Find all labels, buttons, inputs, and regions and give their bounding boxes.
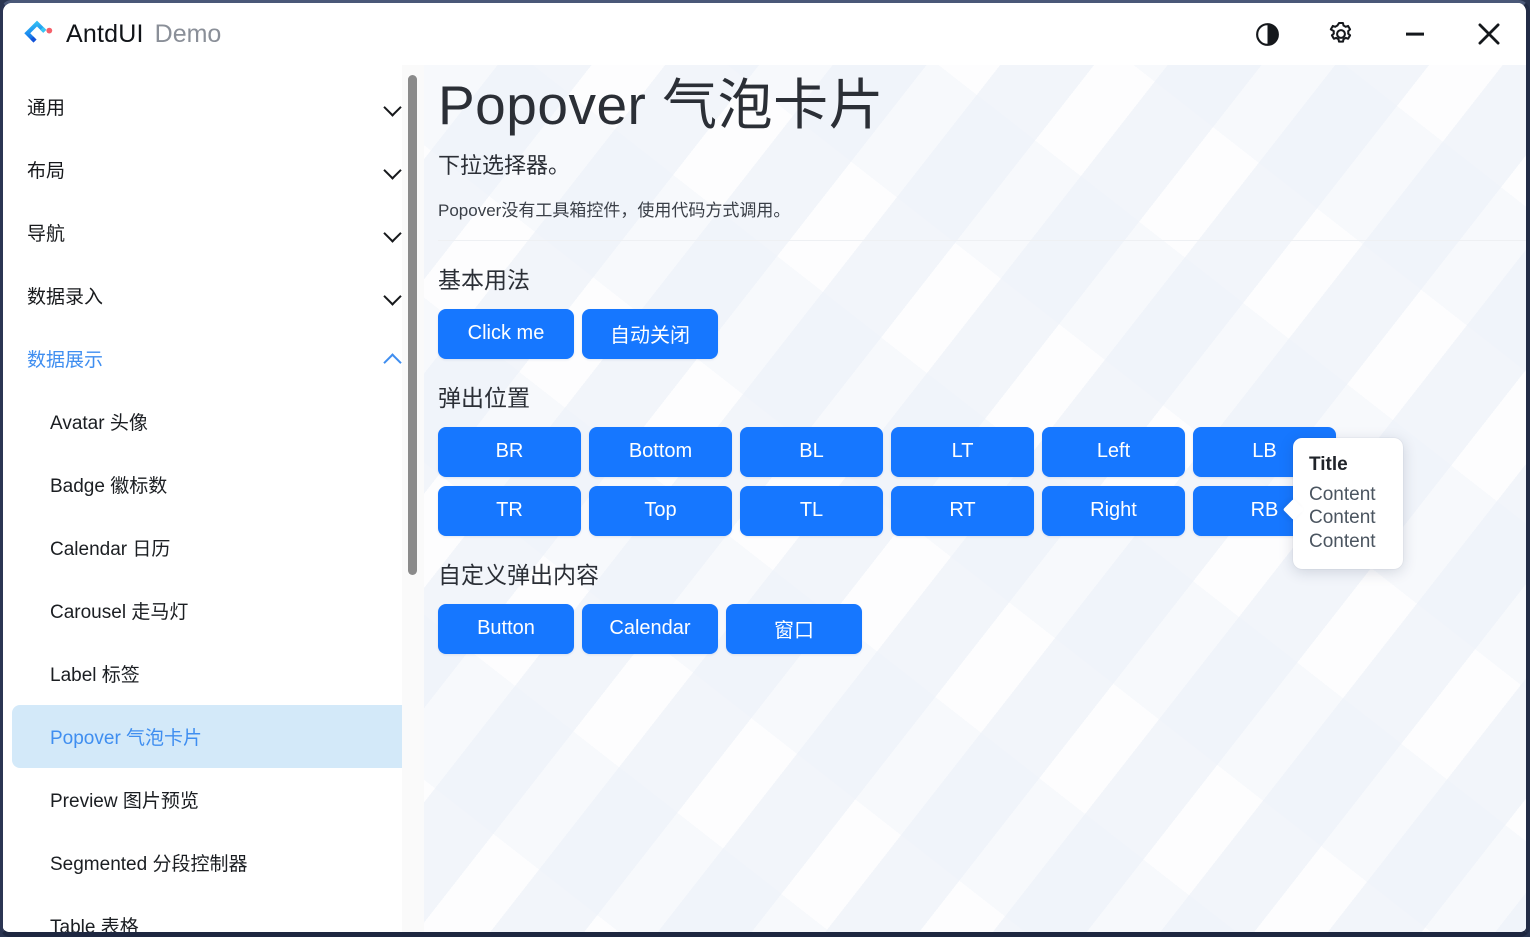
app-title: AntdUI (66, 20, 144, 49)
sidebar-item-label: Popover 气泡卡片 (50, 723, 202, 750)
gear-icon (1327, 20, 1355, 48)
sidebar-group-label: 数据展示 (27, 345, 384, 372)
sidebar-nav: 通用 布局 导航 数据录入 数据展示 (3, 65, 424, 932)
popover-card: Title Content Content Content (1293, 438, 1403, 569)
placement-button-left[interactable]: Left (1042, 427, 1185, 477)
sidebar-group-navigation[interactable]: 导航 (3, 201, 424, 264)
sidebar-item-label: Table 表格 (50, 912, 139, 932)
sidebar-scrollbar-thumb[interactable] (408, 75, 417, 575)
section-heading-basic: 基本用法 (438, 261, 1526, 295)
sidebar-scrollbar[interactable] (402, 65, 424, 932)
settings-button[interactable] (1304, 3, 1378, 65)
chevron-down-icon (384, 101, 402, 112)
title-bar: AntdUI Demo (3, 3, 1526, 65)
sidebar-item-popover[interactable]: Popover 气泡卡片 (12, 705, 415, 768)
app-window: AntdUI Demo (0, 0, 1530, 937)
popover-content-line: Content (1309, 506, 1389, 529)
placement-button-rt[interactable]: RT (891, 486, 1034, 536)
custom-calendar-button[interactable]: Calendar (582, 604, 718, 654)
placement-button-lt[interactable]: LT (891, 427, 1034, 477)
main-content: Popover 气泡卡片 下拉选择器。 Popover没有工具箱控件，使用代码方… (424, 65, 1526, 932)
sidebar-item-avatar[interactable]: Avatar 头像 (12, 390, 415, 453)
sidebar-group-data-display[interactable]: 数据展示 (3, 327, 424, 390)
placement-button-bottom[interactable]: Bottom (589, 427, 732, 477)
sidebar-item-table[interactable]: Table 表格 (12, 894, 415, 932)
sidebar-group-label: 通用 (27, 93, 384, 120)
sidebar-group-label: 数据录入 (27, 282, 384, 309)
placement-button-bl[interactable]: BL (740, 427, 883, 477)
custom-button-button[interactable]: Button (438, 604, 574, 654)
sidebar-item-label: Badge 徽标数 (50, 471, 167, 498)
contrast-icon (1254, 21, 1281, 48)
sidebar-item-badge[interactable]: Badge 徽标数 (12, 453, 415, 516)
sidebar-group-general[interactable]: 通用 (3, 75, 424, 138)
theme-toggle-button[interactable] (1230, 3, 1304, 65)
chevron-down-icon (384, 290, 402, 301)
popover-content-line: Content (1309, 530, 1389, 553)
sidebar-item-calendar[interactable]: Calendar 日历 (12, 516, 415, 579)
placement-button-tl[interactable]: TL (740, 486, 883, 536)
chevron-down-icon (384, 227, 402, 238)
app-subtitle: Demo (155, 20, 222, 49)
click-me-button[interactable]: Click me (438, 309, 574, 359)
sidebar-item-label: Carousel 走马灯 (50, 597, 188, 624)
sidebar-item-carousel[interactable]: Carousel 走马灯 (12, 579, 415, 642)
placement-button-tr[interactable]: TR (438, 486, 581, 536)
sidebar-item-label-component[interactable]: Label 标签 (12, 642, 415, 705)
sidebar-item-label: Calendar 日历 (50, 534, 170, 561)
sidebar-item-preview[interactable]: Preview 图片预览 (12, 768, 415, 831)
page-description: 下拉选择器。 (438, 148, 1526, 180)
sidebar-item-segmented[interactable]: Segmented 分段控制器 (12, 831, 415, 894)
sidebar-group-layout[interactable]: 布局 (3, 138, 424, 201)
placement-button-top[interactable]: Top (589, 486, 732, 536)
window-controls (1230, 3, 1526, 65)
chevron-up-icon (384, 353, 402, 364)
placement-button-right[interactable]: Right (1042, 486, 1185, 536)
sidebar-item-label: Label 标签 (50, 660, 140, 687)
basic-usage-button-row: Click me 自动关闭 (438, 309, 1526, 359)
close-icon (1474, 19, 1504, 49)
page-note: Popover没有工具箱控件，使用代码方式调用。 (438, 196, 1526, 221)
antdui-logo-icon (21, 17, 55, 51)
placement-button-br[interactable]: BR (438, 427, 581, 477)
close-button[interactable] (1452, 3, 1526, 65)
popover-title: Title (1309, 454, 1389, 476)
sidebar-group-data-entry[interactable]: 数据录入 (3, 264, 424, 327)
section-heading-placement: 弹出位置 (438, 379, 1526, 413)
chevron-down-icon (384, 164, 402, 175)
body-area: 通用 布局 导航 数据录入 数据展示 (3, 65, 1526, 932)
sidebar-scroll-region: 通用 布局 导航 数据录入 数据展示 (3, 65, 424, 932)
page-title: Popover 气泡卡片 (438, 73, 1526, 138)
sidebar-group-label: 导航 (27, 219, 384, 246)
minimize-icon (1401, 20, 1429, 48)
custom-content-button-row: Button Calendar 窗口 (438, 604, 1526, 654)
sidebar-item-label: Avatar 头像 (50, 408, 148, 435)
auto-close-button[interactable]: 自动关闭 (582, 309, 718, 359)
minimize-button[interactable] (1378, 3, 1452, 65)
sidebar-item-label: Segmented 分段控制器 (50, 849, 247, 876)
sidebar-item-label: Preview 图片预览 (50, 786, 199, 813)
header-divider (438, 240, 1526, 241)
custom-window-button[interactable]: 窗口 (726, 604, 862, 654)
sidebar-group-label: 布局 (27, 156, 384, 183)
popover-content-line: Content (1309, 483, 1389, 506)
